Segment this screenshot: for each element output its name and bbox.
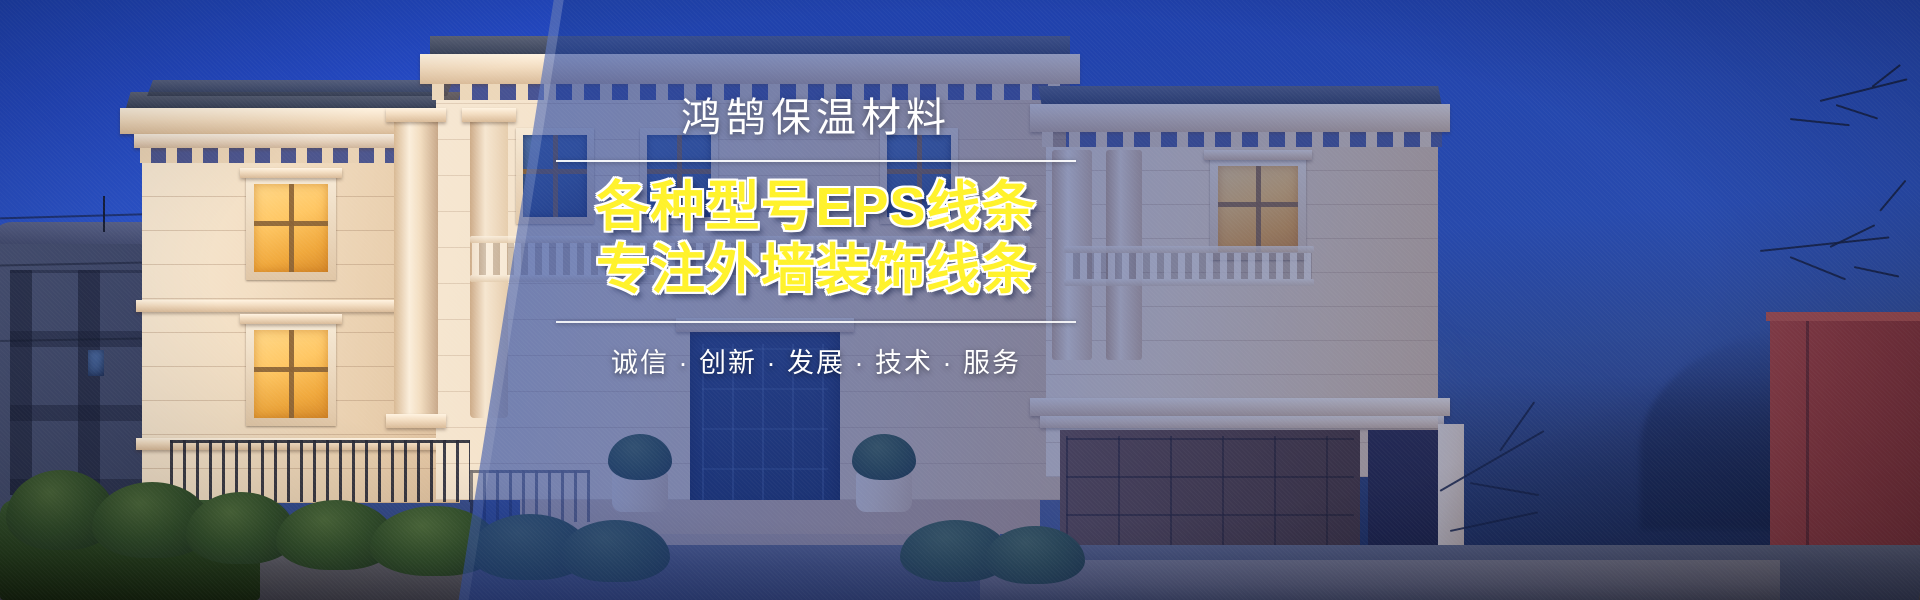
window-mullion-vertical — [289, 184, 294, 272]
villa-right-roof — [1038, 86, 1442, 106]
right-balustrade — [1064, 246, 1314, 286]
window-left-lower — [254, 330, 328, 418]
garage-header-band — [1030, 398, 1450, 416]
window-mullion-horizontal — [254, 367, 328, 372]
branch — [1450, 511, 1538, 532]
window-lintel-right-upper — [1204, 150, 1312, 160]
branch — [1440, 430, 1545, 492]
iron-fence — [170, 440, 470, 502]
portico-column-1-capital — [386, 108, 446, 122]
headline-line-1: 各种型号EPS线条 — [556, 178, 1076, 237]
garage-header-band-2 — [1040, 416, 1444, 428]
portico-column-1-base — [386, 414, 446, 428]
branch — [1830, 224, 1876, 248]
shrub-planter-left — [608, 434, 672, 480]
balustrade-rail-top — [1064, 246, 1314, 253]
villa-left-roof-2 — [147, 80, 453, 96]
branch — [1790, 256, 1846, 280]
villa-right-cornice — [1030, 104, 1450, 132]
banner-text-block: 鸿鹄保温材料 各种型号EPS线条 专注外墙装饰线条 诚信 · 创新 · 发展 ·… — [556, 96, 1076, 380]
portico-column-2-capital — [462, 108, 516, 122]
headline-line-2: 专注外墙装饰线条 — [556, 241, 1076, 300]
portico-column-1 — [394, 118, 438, 418]
window-left-upper — [254, 184, 328, 272]
balustrade-rail-bottom — [1064, 279, 1314, 286]
divider-upper — [556, 160, 1076, 162]
driveway — [980, 560, 1780, 600]
bare-tree-branches — [1640, 60, 1920, 380]
branch — [1790, 118, 1850, 126]
window-mullion-vertical — [289, 330, 294, 418]
branch — [1836, 104, 1878, 119]
shrub-planter-right — [852, 434, 916, 480]
branch — [1760, 236, 1889, 252]
background-window-lit — [88, 350, 104, 376]
branch — [1879, 180, 1906, 212]
branch — [1854, 266, 1899, 278]
window-mullion-horizontal — [254, 221, 328, 226]
tagline: 诚信 · 创新 · 发展 · 技术 · 服务 — [556, 341, 1076, 380]
promo-banner: 鸿鹄保温材料 各种型号EPS线条 专注外墙装饰线条 诚信 · 创新 · 发展 ·… — [0, 0, 1920, 600]
window-lintel-left-lower — [240, 314, 342, 324]
villa-center-cornice — [420, 54, 1080, 84]
window-lintel-left-upper — [240, 168, 342, 178]
window-mullion-horizontal — [1218, 202, 1298, 207]
divider-lower — [556, 321, 1076, 323]
branch — [1820, 78, 1908, 102]
villa-right-dentils — [1042, 132, 1442, 147]
window-right-upper — [1218, 166, 1298, 252]
balustrade-posts — [1066, 253, 1312, 279]
window-mullion-vertical — [1256, 166, 1261, 252]
branch — [1470, 482, 1539, 496]
company-name: 鸿鹄保温材料 — [556, 96, 1076, 140]
